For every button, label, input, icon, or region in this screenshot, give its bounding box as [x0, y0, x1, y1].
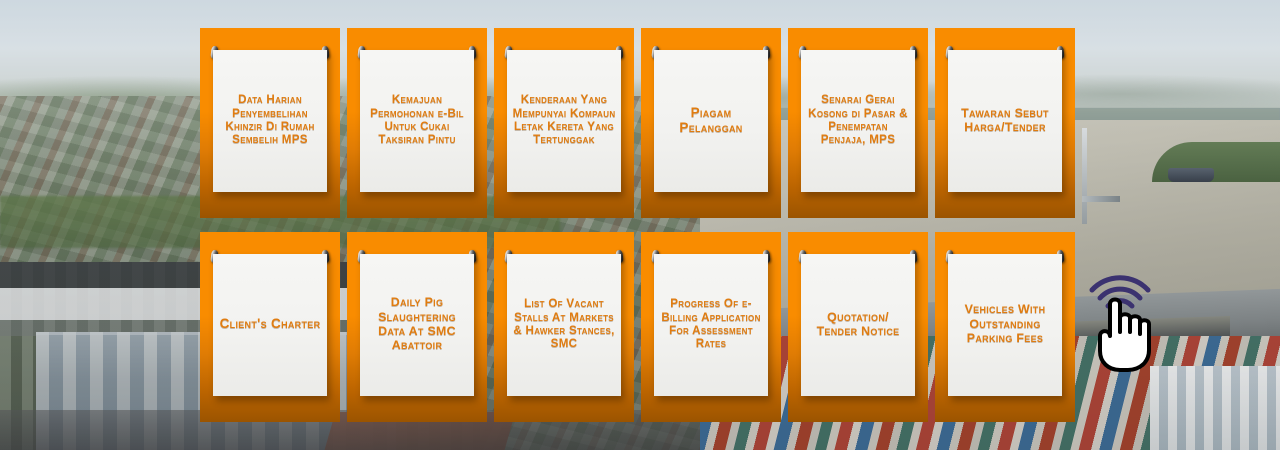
tile-note-card: Quotation/ Tender Notice	[801, 254, 915, 396]
cargo-ship	[1168, 168, 1214, 182]
tile-row-2: Client's Charter Daily Pig Slaughtering …	[200, 232, 1080, 422]
port-crane-arm	[1082, 196, 1120, 202]
tile-note-card: Kenderaan Yang Mempunyai Kompaun Letak K…	[507, 50, 621, 192]
port-office-building	[1150, 366, 1280, 450]
service-tile[interactable]: Progress Of e-Billing Application For As…	[641, 232, 781, 422]
service-tile[interactable]: Piagam Pelanggan	[641, 28, 781, 218]
tile-label: Data Harian Penyembelihan Khinzir Di Rum…	[218, 93, 322, 147]
service-tile[interactable]: Tawaran Sebut Harga/Tender	[935, 28, 1075, 218]
service-tile-grid: Data Harian Penyembelihan Khinzir Di Rum…	[200, 28, 1080, 420]
service-tile[interactable]: Kemajuan Permohonan e-Bil Untuk Cukai Ta…	[347, 28, 487, 218]
service-tile[interactable]: Quotation/ Tender Notice	[788, 232, 928, 422]
tile-note-card: Vehicles With Outstanding Parking Fees	[948, 254, 1062, 396]
service-tile[interactable]: Senarai Gerai Kosong di Pasar & Penempat…	[788, 28, 928, 218]
tile-note-card: Kemajuan Permohonan e-Bil Untuk Cukai Ta…	[360, 50, 474, 192]
service-tile[interactable]: Kenderaan Yang Mempunyai Kompaun Letak K…	[494, 28, 634, 218]
tile-label: Quotation/ Tender Notice	[806, 310, 910, 339]
tile-note-card: List Of Vacant Stalls At Markets & Hawke…	[507, 254, 621, 396]
tile-note-card: Data Harian Penyembelihan Khinzir Di Rum…	[213, 50, 327, 192]
tile-label: Senarai Gerai Kosong di Pasar & Penempat…	[806, 93, 910, 147]
tile-label: Daily Pig Slaughtering Data At SMC Abatt…	[365, 295, 469, 353]
tile-label: Progress Of e-Billing Application For As…	[659, 297, 763, 351]
tile-label: Kenderaan Yang Mempunyai Kompaun Letak K…	[512, 93, 616, 147]
tile-label: Piagam Pelanggan	[659, 105, 763, 136]
tile-note-card: Daily Pig Slaughtering Data At SMC Abatt…	[360, 254, 474, 396]
service-tile[interactable]: Vehicles With Outstanding Parking Fees	[935, 232, 1075, 422]
port-crane-mast	[1082, 128, 1087, 224]
screenshot-stage: Data Harian Penyembelihan Khinzir Di Rum…	[0, 0, 1280, 450]
service-tile[interactable]: List Of Vacant Stalls At Markets & Hawke…	[494, 232, 634, 422]
tile-label: Vehicles With Outstanding Parking Fees	[953, 302, 1057, 345]
tile-note-card: Senarai Gerai Kosong di Pasar & Penempat…	[801, 50, 915, 192]
tile-label: Kemajuan Permohonan e-Bil Untuk Cukai Ta…	[365, 93, 469, 147]
tile-note-card: Client's Charter	[213, 254, 327, 396]
service-tile[interactable]: Data Harian Penyembelihan Khinzir Di Rum…	[200, 28, 340, 218]
tile-label: Client's Charter	[218, 316, 322, 332]
service-tile[interactable]: Client's Charter	[200, 232, 340, 422]
tile-row-1: Data Harian Penyembelihan Khinzir Di Rum…	[200, 28, 1080, 218]
tile-note-card: Tawaran Sebut Harga/Tender	[948, 50, 1062, 192]
service-tile[interactable]: Daily Pig Slaughtering Data At SMC Abatt…	[347, 232, 487, 422]
tile-note-card: Piagam Pelanggan	[654, 50, 768, 192]
tile-label: Tawaran Sebut Harga/Tender	[953, 106, 1057, 135]
tile-label: List Of Vacant Stalls At Markets & Hawke…	[512, 297, 616, 351]
tile-note-card: Progress Of e-Billing Application For As…	[654, 254, 768, 396]
